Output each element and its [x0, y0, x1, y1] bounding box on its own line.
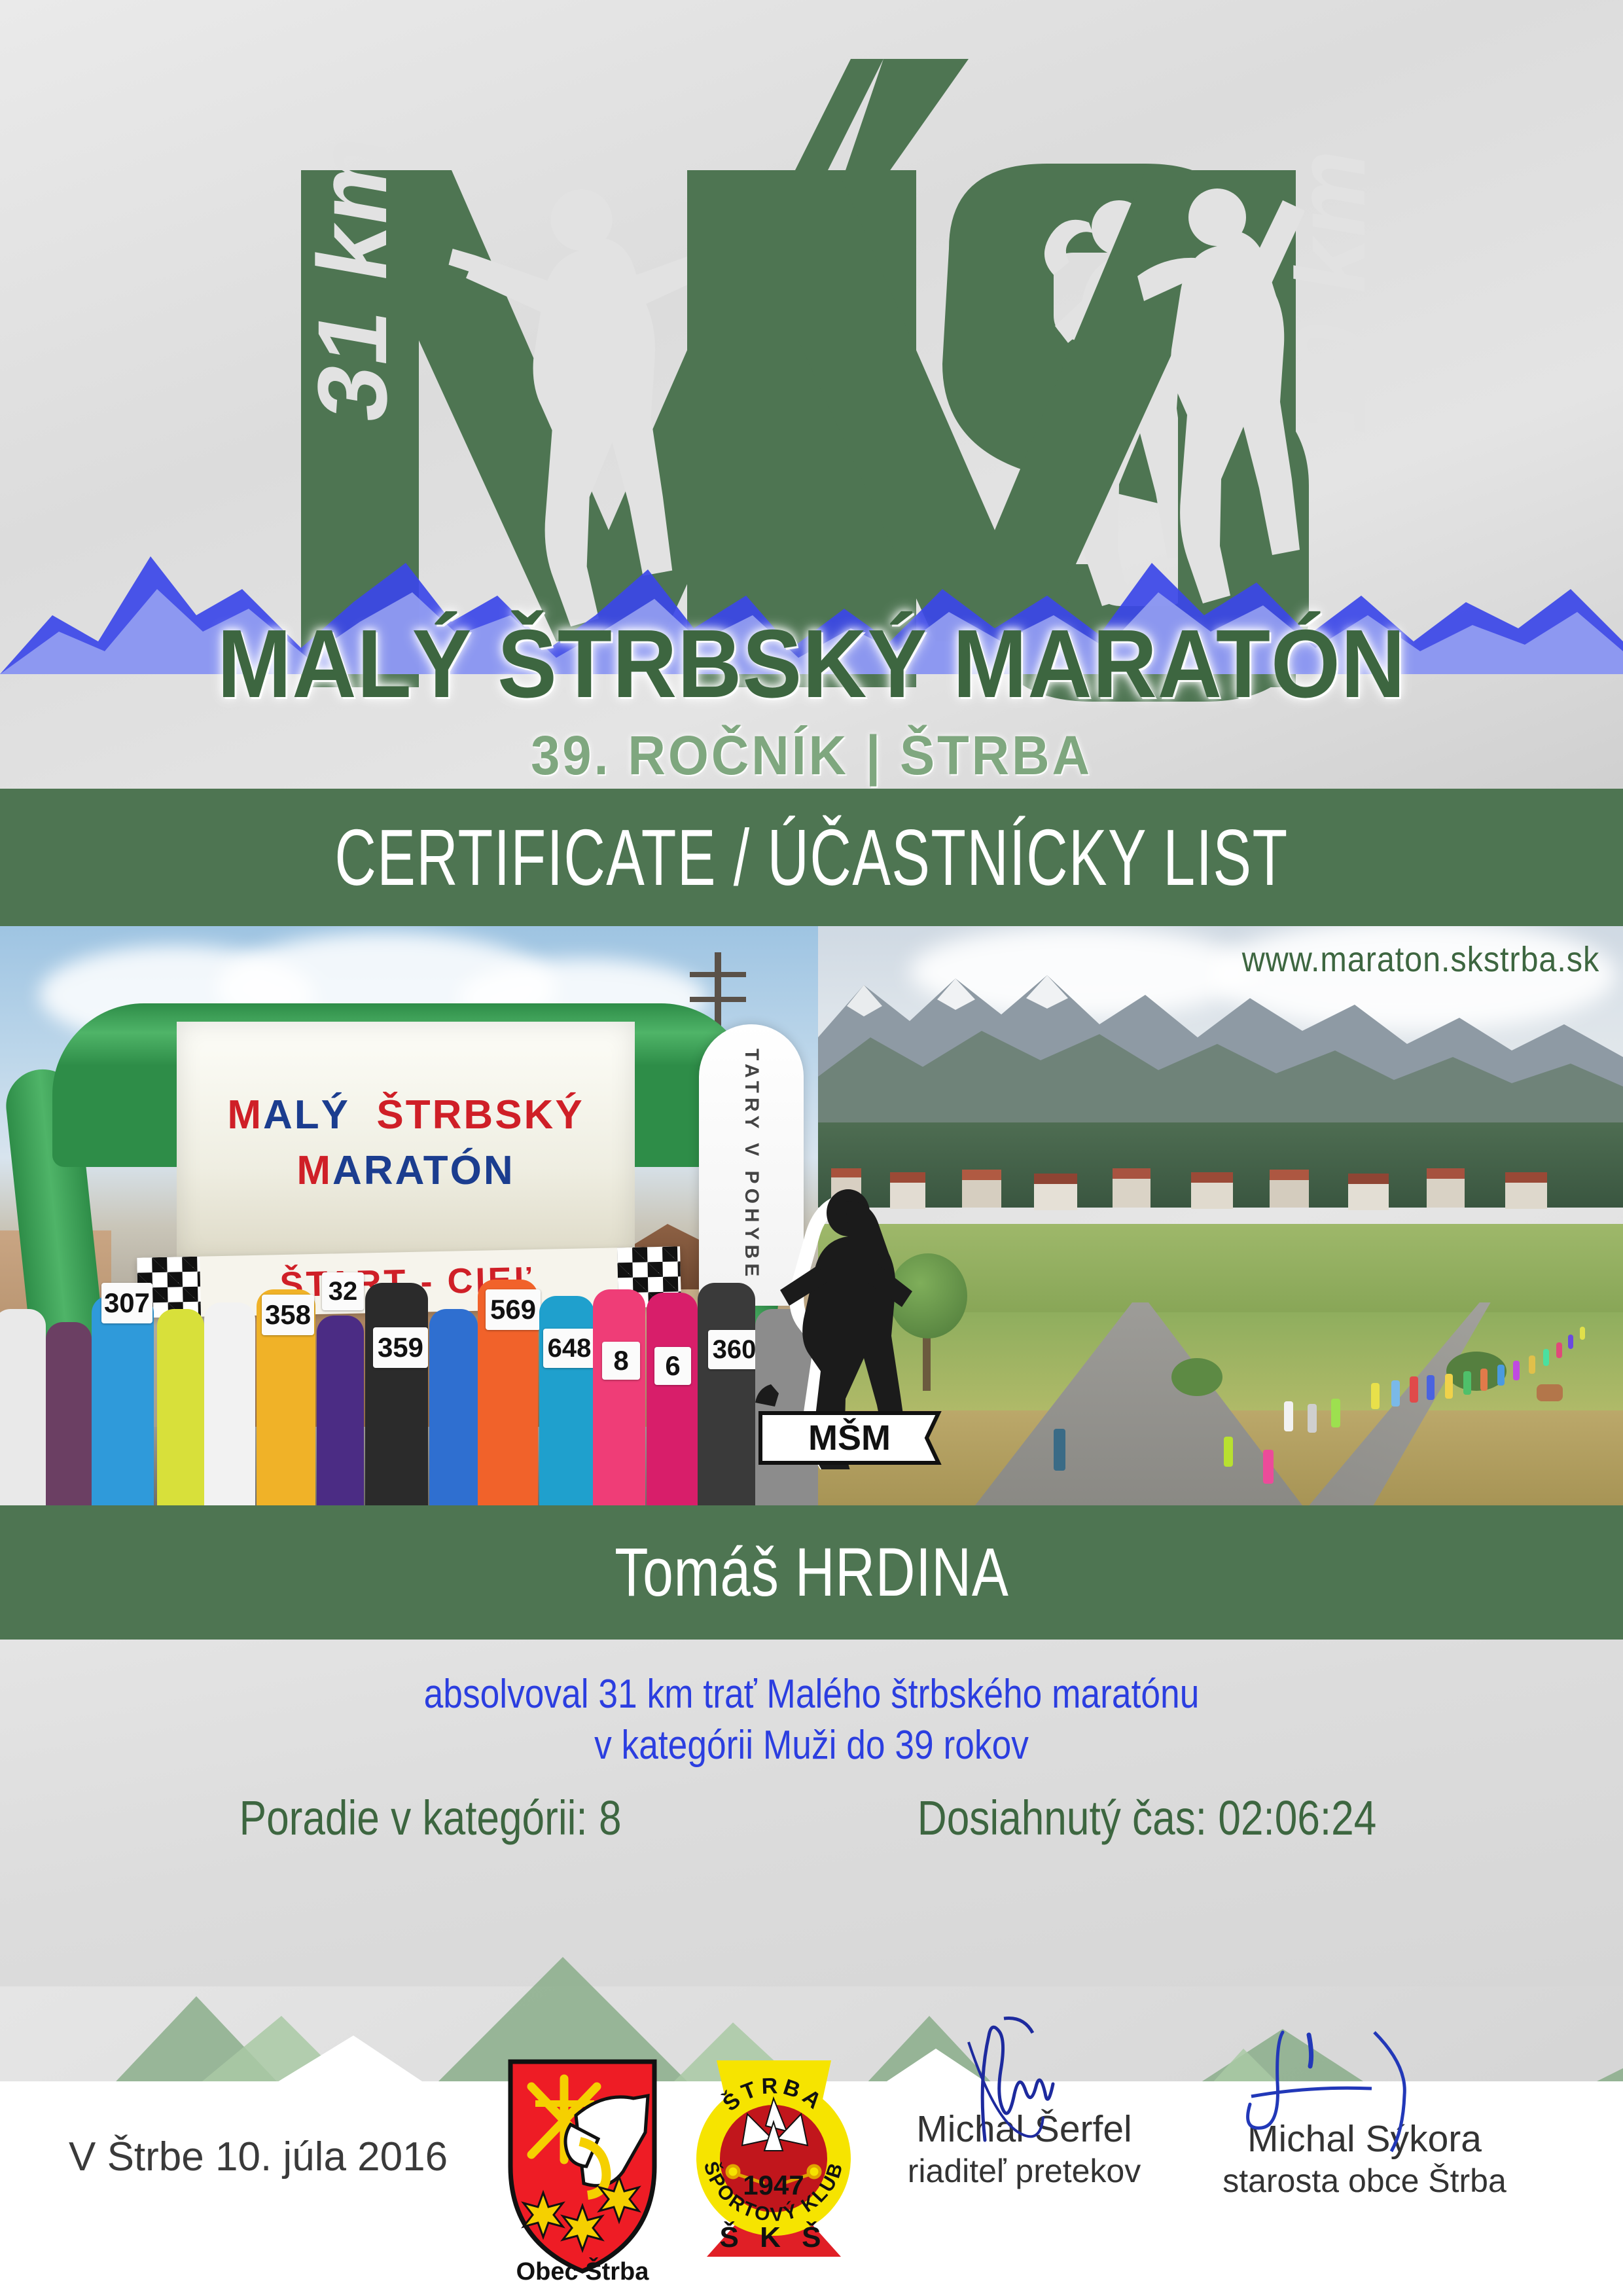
runner-crowd: 307 358 32 359 569 648 8 6 360: [0, 1244, 818, 1505]
logo-10km-label: 10 km: [1276, 138, 1386, 442]
sks-bottom-text: Š K Š: [720, 2220, 828, 2253]
logo-31km-label: 31 km: [298, 125, 408, 429]
bib-359: 359: [373, 1327, 428, 1368]
obec-strba-crest-icon: [497, 2055, 668, 2278]
arch-banner-line1: MALÝ ŠTRBSKÝ: [227, 1092, 584, 1138]
signature-role-2: starosta obce Štrba: [1211, 2162, 1518, 2200]
finish-time: Dosiahnutý čas: 02:06:24: [918, 1790, 1376, 1846]
sks-year: 1947: [743, 2170, 804, 2200]
certificate-footer: V Štrbe 10. júla 2016: [0, 2081, 1623, 2296]
issue-date: V Štrbe 10. júla 2016: [69, 2134, 448, 2180]
signature-scribble-2: [1211, 2019, 1518, 2157]
bib-358: 358: [262, 1295, 314, 1335]
bib-32: 32: [322, 1272, 364, 1310]
certificate-band: CERTIFICATE / ÚČASTNÍCKY LIST: [0, 789, 1623, 926]
msm-emblem-text: MŠM: [808, 1418, 891, 1458]
header-logo-area: 31 km: [0, 0, 1623, 789]
website-url: www.maraton.skstrba.sk: [1242, 939, 1599, 980]
achievement-line-1: absolvoval 31 km trať Malého štrbského m…: [114, 1669, 1510, 1720]
achievement-line-2: v kategórii Muži do 39 rokov: [114, 1720, 1510, 1771]
participant-name-band: Tomáš HRDINA: [0, 1505, 1623, 1640]
category-rank: Poradie v kategórii: 8: [239, 1790, 621, 1846]
signature-scribble-1: [870, 2009, 1178, 2147]
event-title-sub: 39. ROČNÍK | ŠTRBA: [41, 724, 1582, 787]
bib-8: 8: [602, 1342, 640, 1380]
certificate-page: 31 km: [0, 0, 1623, 2296]
event-title: MALÝ ŠTRBSKÝ MARATÓN 39. ROČNÍK | ŠTRBA: [0, 609, 1623, 787]
participant-name: Tomáš HRDINA: [615, 1534, 1008, 1612]
msm-runner-emblem: MŠM: [751, 1188, 948, 1469]
signature-block-director: Michal Šerfel riaditeľ pretekov: [870, 2108, 1178, 2190]
bib-648: 648: [543, 1329, 596, 1368]
bib-6: 6: [654, 1347, 691, 1385]
arch-banner: MALÝ ŠTRBSKÝ MARATÓN: [177, 1022, 635, 1264]
bib-307: 307: [101, 1283, 152, 1323]
arch-banner-line2: MARATÓN: [296, 1147, 514, 1194]
result-stats: Poradie v kategórii: 8 Dosiahnutý čas: 0…: [0, 1790, 1623, 1846]
tatra-mountains: [818, 959, 1623, 1142]
sks-club-logo-icon: 1947 ŠTRBA ŠPORTOVÝ KLUB Š K Š: [687, 2054, 861, 2263]
achievement-description: absolvoval 31 km trať Malého štrbského m…: [0, 1669, 1623, 1770]
photo-start-line: MALÝ ŠTRBSKÝ MARATÓN ŠTART - CIEĽ TATRY …: [0, 926, 818, 1505]
signature-role-1: riaditeľ pretekov: [870, 2152, 1178, 2190]
signature-block-mayor: Michal Sýkora starosta obce Štrba: [1211, 2117, 1518, 2200]
certificate-band-label: CERTIFICATE / ÚČASTNÍCKY LIST: [334, 812, 1288, 903]
event-title-main: MALÝ ŠTRBSKÝ MARATÓN: [65, 609, 1558, 720]
obec-strba-label: Obec Štrba: [497, 2258, 668, 2286]
bib-569: 569: [486, 1289, 541, 1330]
